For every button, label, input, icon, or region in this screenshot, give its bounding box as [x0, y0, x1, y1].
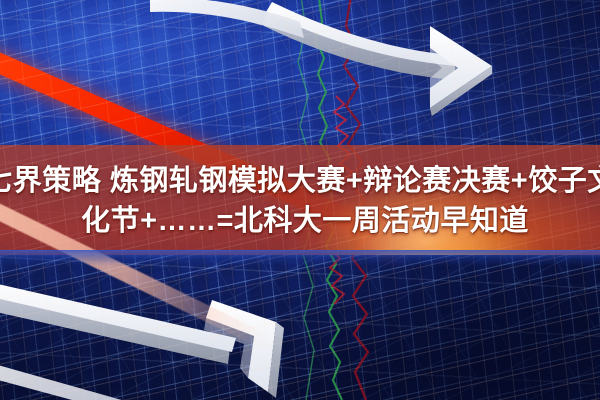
headline-line-2: 化节+……=北科大一周活动早知道 [71, 201, 529, 241]
headline-text: 七界策略 炼钢轧钢模拟大赛+辩论赛决赛+饺子文 化节+……=北科大一周活动早知道 [0, 152, 600, 250]
band-bottom-glow [0, 250, 600, 266]
banner-image: 七界策略 炼钢轧钢模拟大赛+辩论赛决赛+饺子文 化节+……=北科大一周活动早知道 [0, 0, 600, 400]
headline-line-1: 七界策略 炼钢轧钢模拟大赛+辩论赛决赛+饺子文 [0, 161, 600, 201]
